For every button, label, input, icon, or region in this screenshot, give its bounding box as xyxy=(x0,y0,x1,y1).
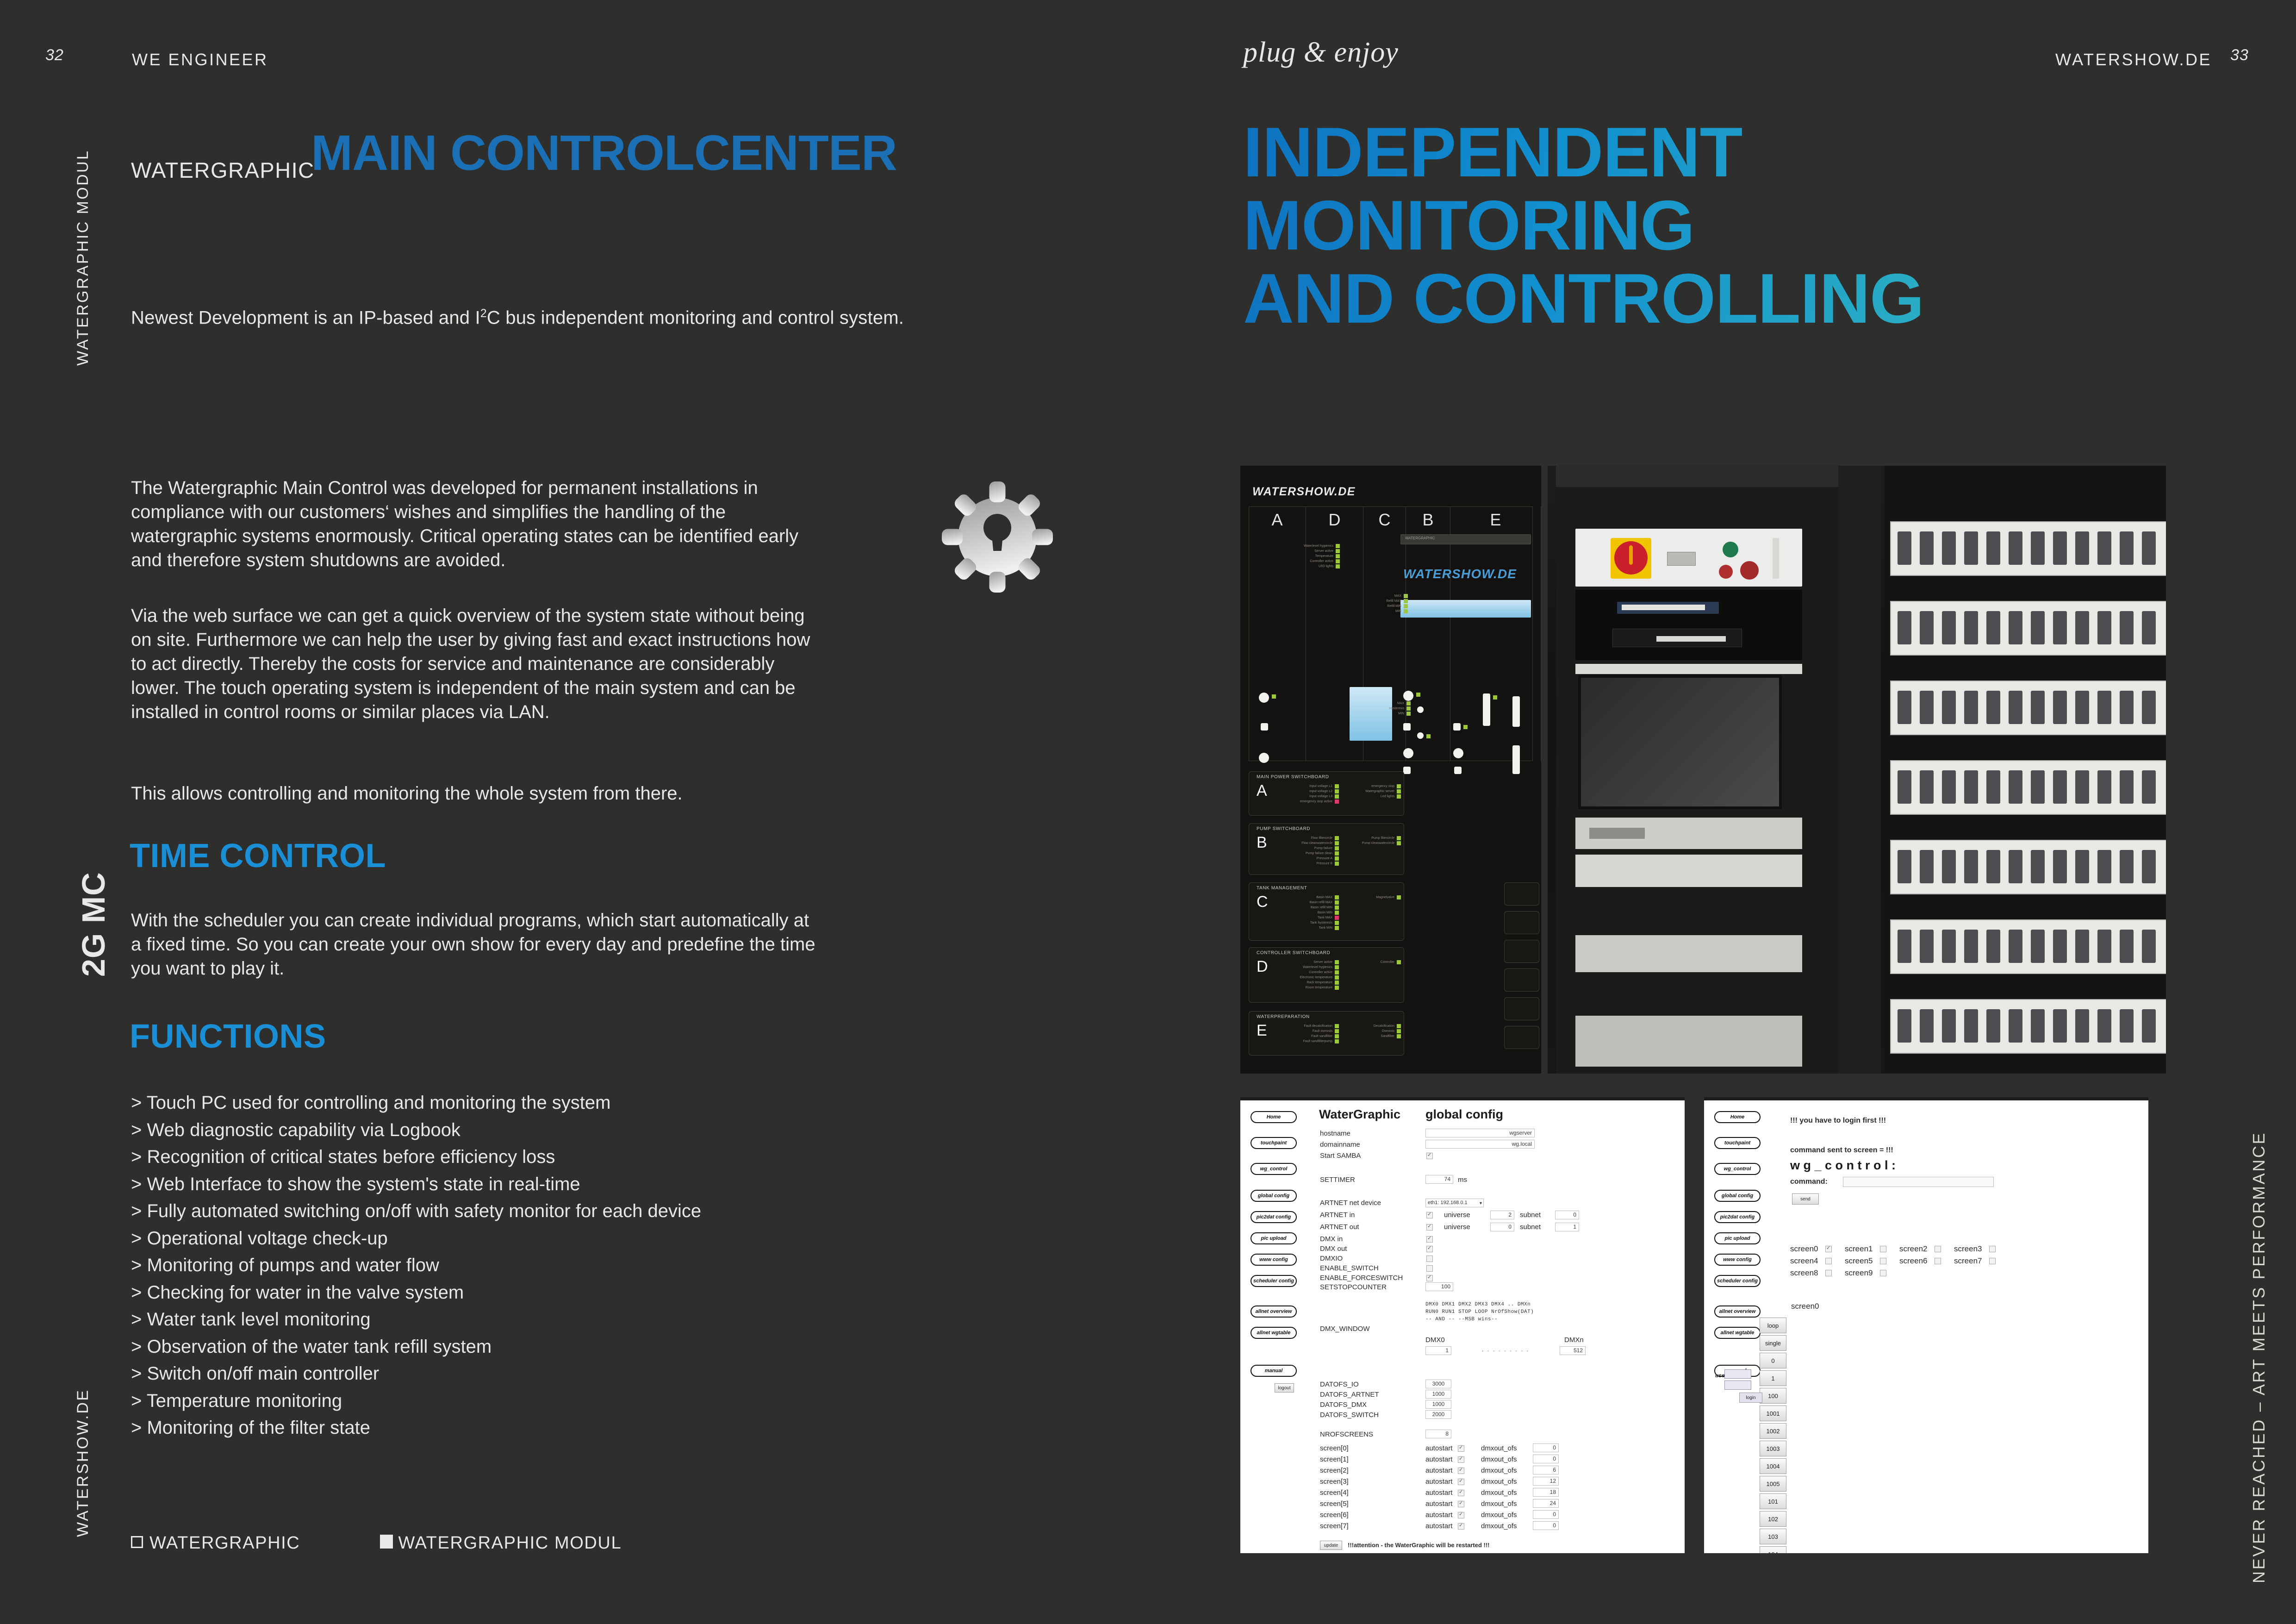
status-led-icon xyxy=(1397,1029,1401,1033)
photo-patch-port xyxy=(2009,1009,2022,1043)
command-button-102[interactable]: 102 xyxy=(1760,1511,1786,1527)
status-led-icon xyxy=(1416,693,1420,697)
status-led-icon xyxy=(1336,554,1340,558)
unit-settimer: ms xyxy=(1458,1176,1467,1184)
schematic-led-label: Flow cleanwatercircle xyxy=(1301,842,1332,845)
schematic-led-row: Fault sandfilter xyxy=(1279,1034,1339,1039)
input-datofs-artnet[interactable]: 1000 xyxy=(1425,1390,1451,1399)
schematic-led-row: Room temperature xyxy=(1279,985,1339,990)
global-config-nav-global-config[interactable]: global config xyxy=(1251,1190,1297,1202)
photo-patch-port xyxy=(1942,1009,1956,1043)
photo-patch-port xyxy=(2120,850,2134,883)
photo-patch-port xyxy=(2097,611,2111,644)
command-button-loop[interactable]: loop xyxy=(1760,1318,1786,1333)
schematic-led-label: Pump failure clean xyxy=(1306,852,1332,855)
photo-patch-port xyxy=(2053,531,2067,565)
label-datofs-io: DATOFS_IO xyxy=(1320,1380,1359,1388)
input-subnet-out[interactable]: 1 xyxy=(1555,1223,1579,1231)
label-screen5: screen5 xyxy=(1845,1256,1873,1266)
status-led-icon xyxy=(1463,725,1468,729)
schematic-led-label: Electronic temperature xyxy=(1300,976,1332,979)
lead-text-before: Newest Development is an IP-based and I xyxy=(131,307,480,328)
schematic-led-label: Controller active xyxy=(1309,971,1332,974)
screen-row-autostart-label: autostart xyxy=(1425,1478,1452,1486)
schematic-led-label: Watergraphic server xyxy=(1365,790,1394,793)
photo-patch-port xyxy=(2009,850,2022,883)
schematic-led-label: Magnetvalve xyxy=(1376,896,1394,899)
schematic-led-label: Rack temperature xyxy=(1307,981,1332,984)
schematic-component-node xyxy=(1483,693,1490,726)
input-datofs-io[interactable]: 3000 xyxy=(1425,1380,1451,1388)
schematic-led-row: Input voltage L3 xyxy=(1279,794,1339,799)
schematic-side-block xyxy=(1504,940,1539,963)
send-button[interactable]: send xyxy=(1792,1193,1819,1205)
schematic-column-e: E xyxy=(1450,506,1541,761)
status-led-icon xyxy=(1335,986,1339,990)
global-config-nav-touchpaint[interactable]: touchpaint xyxy=(1251,1137,1297,1149)
photo-patch-port xyxy=(1964,531,1978,565)
side-tab-tagline: NEVER REACHED – ART MEETS PERFORMANCE xyxy=(2249,1131,2269,1583)
command-input[interactable] xyxy=(1843,1177,1994,1187)
status-led-icon xyxy=(1335,911,1339,915)
label-screen7: screen7 xyxy=(1954,1256,1982,1266)
screen-row-autostart-checkbox[interactable] xyxy=(1458,1523,1464,1530)
schematic-led-row: Pump filtercircle xyxy=(1344,836,1401,841)
photo-patch-port xyxy=(1898,770,1911,804)
schematic-component-node xyxy=(1403,748,1413,758)
status-led-icon xyxy=(1335,926,1339,930)
checkbox-dmx out[interactable] xyxy=(1426,1246,1433,1252)
command-sent-status: command sent to screen = !!! xyxy=(1790,1146,1893,1155)
screen-row-dmxout-label: dmxout_ofs xyxy=(1481,1478,1517,1486)
photo-server-rack xyxy=(1548,466,2166,1074)
photo-patch-port xyxy=(2097,850,2111,883)
schematic-panel-letter: C xyxy=(1257,893,1268,911)
photo-patch-port xyxy=(1986,691,2000,724)
status-led-icon xyxy=(1335,841,1339,845)
wg-control-nav-www-config[interactable]: www config xyxy=(1714,1254,1761,1266)
status-led-icon xyxy=(1272,694,1276,699)
schematic-component-node xyxy=(1453,748,1463,758)
photo-patch-port xyxy=(2120,691,2134,724)
photo-patch-port xyxy=(2120,770,2134,804)
screen-row-dmxout-input[interactable]: 0 xyxy=(1533,1510,1559,1519)
checkbox-screen4[interactable] xyxy=(1825,1258,1832,1264)
command-button-1004[interactable]: 1004 xyxy=(1760,1458,1786,1474)
wg-control-nav-pic-upload[interactable]: pic upload xyxy=(1714,1232,1761,1244)
schematic-led-row: Pump failure xyxy=(1279,846,1339,851)
label-screen2: screen2 xyxy=(1899,1244,1927,1254)
photo-patch-port xyxy=(1986,611,2000,644)
schematic-led-label: Pressure B xyxy=(1316,862,1332,865)
schematic-panel-letter: A xyxy=(1257,782,1267,800)
checkbox-screen3[interactable] xyxy=(1989,1246,1996,1252)
schematic-led-row: MAX xyxy=(1357,593,1408,599)
status-led-icon xyxy=(1335,862,1339,866)
dmx-window-dots: . . . . . . . . . xyxy=(1482,1347,1530,1353)
input-domainname[interactable]: wg.local xyxy=(1425,1140,1535,1149)
photo-patch-port xyxy=(2009,531,2022,565)
label-enable-switch: ENABLE_SWITCH xyxy=(1320,1264,1379,1272)
wg-control-nav-touchpaint[interactable]: touchpaint xyxy=(1714,1137,1761,1149)
running-head-script: plug & enjoy xyxy=(1243,36,1399,69)
schematic-led-label: Tank hysteresis xyxy=(1310,921,1332,924)
screen-row-autostart-checkbox[interactable] xyxy=(1458,1501,1464,1507)
checkbox-screen6[interactable] xyxy=(1935,1258,1941,1264)
body-paragraph: This allows controlling and monitoring t… xyxy=(131,781,816,806)
schematic-led-label: Led lights xyxy=(1381,795,1394,798)
input-nrofscreens[interactable]: 8 xyxy=(1425,1430,1451,1438)
wg-control-nav-scheduler-config[interactable]: scheduler config xyxy=(1714,1275,1761,1287)
schematic-led-label: Controller xyxy=(1381,961,1394,964)
screen-row-dmxout-label: dmxout_ofs xyxy=(1481,1489,1517,1497)
screen-row-dmxout-label: dmxout_ofs xyxy=(1481,1522,1517,1530)
schematic-led-row: Flow cleanwatercircle xyxy=(1279,841,1339,846)
checkbox-artnet-out[interactable] xyxy=(1426,1224,1433,1230)
photo-patch-port xyxy=(1964,770,1978,804)
screen-row-dmxout-input[interactable]: 0 xyxy=(1533,1443,1559,1452)
schematic-led-row: Controller active xyxy=(1289,559,1340,564)
screen-row-dmxout-label: dmxout_ofs xyxy=(1481,1500,1517,1508)
screen-row-autostart-checkbox[interactable] xyxy=(1458,1445,1464,1452)
screen-row-dmxout-input[interactable]: 0 xyxy=(1533,1521,1559,1530)
screen-row-dmxout-input[interactable]: 0 xyxy=(1533,1455,1559,1463)
screen-row-autostart-label: autostart xyxy=(1425,1522,1452,1530)
screen-row-dmxout-label: dmxout_ofs xyxy=(1481,1455,1517,1463)
command-button-1005[interactable]: 1005 xyxy=(1760,1476,1786,1492)
status-led-icon xyxy=(1335,794,1339,799)
photo-patch-port xyxy=(1898,691,1911,724)
photo-patch-port xyxy=(1964,1009,1978,1043)
schematic-led-label: Decalcification xyxy=(1374,1024,1394,1028)
screen-row-name: screen[4] xyxy=(1320,1489,1349,1497)
status-led-icon xyxy=(1335,975,1339,980)
photo-patch-port xyxy=(2053,691,2067,724)
input-subnet-in[interactable]: 0 xyxy=(1555,1211,1579,1219)
photo-patch-port xyxy=(1920,770,1934,804)
photo-patch-port xyxy=(2009,770,2022,804)
schematic-led-row: Flow filtercircle xyxy=(1279,836,1339,841)
screen-row-autostart-checkbox[interactable] xyxy=(1458,1490,1464,1496)
schematic-led-label: MIN xyxy=(1398,712,1404,715)
photo-patch-port xyxy=(1964,611,1978,644)
function-list-item: > Observation of the water tank refill s… xyxy=(131,1333,701,1361)
photo-patch-port xyxy=(1986,1009,2000,1043)
checkbox-screen8[interactable] xyxy=(1825,1270,1832,1276)
status-led-icon xyxy=(1397,794,1401,799)
label-nrofscreens: NROFSCREENS xyxy=(1320,1430,1373,1438)
schematic-panel-d: CONTROLLER SWITCHBOARDDServer activeWate… xyxy=(1249,947,1404,1003)
schematic-panel-right-column: Pump filtercirclePump cleanwatercircle xyxy=(1344,836,1401,846)
label-dmx-window: DMX_WINDOW xyxy=(1320,1325,1370,1333)
footer-marks: WATERGRAPHIC WATERGRAPHIC MODUL xyxy=(131,1533,622,1553)
input-dmxn[interactable]: 512 xyxy=(1560,1346,1586,1355)
global-config-nav-allnet-wgtable[interactable]: allnet wgtable xyxy=(1251,1327,1297,1339)
ui-screenshot-row: Hometouchpaintwg_controlglobal configpic… xyxy=(1240,1097,2166,1553)
command-button-0[interactable]: 0 xyxy=(1760,1353,1786,1368)
input-hostname[interactable]: wgserver xyxy=(1425,1129,1535,1137)
body-paragraph: The Watergraphic Main Control was develo… xyxy=(131,476,816,572)
screen-row-autostart-label: autostart xyxy=(1425,1455,1452,1463)
schematic-led-row: Pressure A xyxy=(1279,856,1339,861)
global-config-nav-home[interactable]: Home xyxy=(1251,1111,1297,1123)
screen-row-autostart-label: autostart xyxy=(1425,1467,1452,1474)
label-subnet-out: subnet xyxy=(1520,1223,1541,1231)
login-button[interactable]: login xyxy=(1739,1393,1762,1403)
photo-patch-port xyxy=(2009,930,2022,963)
schematic-led-label: Basin refill MAX xyxy=(1310,901,1332,904)
screen-row-name: screen[6] xyxy=(1320,1511,1349,1519)
checkbox-screen7[interactable] xyxy=(1989,1258,1996,1264)
wg-control-nav-global-config[interactable]: global config xyxy=(1714,1190,1761,1202)
status-led-icon xyxy=(1335,900,1339,905)
schematic-led-row: Led lights xyxy=(1344,794,1401,799)
section-heading-functions: FUNCTIONS xyxy=(130,1018,326,1056)
body-paragraph-time-control: With the scheduler you can create indivi… xyxy=(131,908,816,981)
schematic-led-row: Input voltage L1 xyxy=(1279,784,1339,789)
status-led-icon xyxy=(1335,856,1339,861)
screen-row-autostart-checkbox[interactable] xyxy=(1458,1512,1464,1518)
schematic-led-label: Fault osmosis xyxy=(1313,1030,1332,1033)
screen-row-autostart-checkbox[interactable] xyxy=(1458,1468,1464,1474)
photo-patch-port xyxy=(1942,850,1956,883)
wg-control-nav-pic2dat-config[interactable]: pic2dat config xyxy=(1714,1211,1761,1223)
schematic-column-b: B xyxy=(1406,506,1450,761)
global-config-nav-pic-upload[interactable]: pic upload xyxy=(1251,1232,1297,1244)
function-list-item: > Fully automated switching on/off with … xyxy=(131,1198,701,1225)
status-led-icon xyxy=(1335,800,1339,804)
photo-patch-port xyxy=(2053,770,2067,804)
page-title: global config xyxy=(1425,1107,1503,1122)
photo-patch-port xyxy=(1964,930,1978,963)
schematic-panel-title: WATERPREPARATION xyxy=(1257,1014,1310,1019)
global-config-nav-allnet-overview[interactable]: allnet overview xyxy=(1251,1305,1297,1318)
label-datofs-switch: DATOFS_SWITCH xyxy=(1320,1411,1379,1419)
input-universe-in[interactable]: 2 xyxy=(1490,1211,1514,1219)
function-list-item: > Temperature monitoring xyxy=(131,1387,701,1415)
input-universe-out[interactable]: 0 xyxy=(1490,1223,1514,1231)
running-head-right: WATERSHOW.DE xyxy=(2055,50,2212,69)
schematic-led-row: Server active xyxy=(1289,549,1340,554)
checkbox-start-samba[interactable] xyxy=(1426,1153,1433,1159)
schematic-panel-right-column: Magnetvalve xyxy=(1344,895,1401,900)
schematic-panel-title: MAIN POWER SWITCHBOARD xyxy=(1257,775,1329,780)
checkbox-artnet-in[interactable] xyxy=(1426,1212,1433,1218)
password-input[interactable] xyxy=(1724,1380,1751,1390)
app-title: WaterGraphic xyxy=(1319,1107,1400,1122)
schematic-component-node xyxy=(1417,732,1424,739)
schematic-component-node xyxy=(1403,767,1411,774)
footer-mark-watergraphic-modul: WATERGRAPHIC MODUL xyxy=(380,1533,622,1553)
global-config-nav-wg-control[interactable]: wg_control xyxy=(1251,1163,1297,1175)
browser-chrome-bar xyxy=(1240,1097,1685,1100)
photo-patch-port xyxy=(2031,531,2045,565)
status-led-icon xyxy=(1404,604,1408,608)
photo-patch-port xyxy=(1942,930,1956,963)
screen-row-dmxout-input[interactable]: 12 xyxy=(1533,1477,1559,1486)
schematic-component-node xyxy=(1512,696,1520,727)
label-hostname: hostname xyxy=(1320,1130,1350,1137)
command-label: command: xyxy=(1790,1178,1828,1186)
checkbox-dmxio[interactable] xyxy=(1426,1255,1433,1262)
screen-row-autostart-checkbox[interactable] xyxy=(1458,1456,1464,1463)
schematic-led-label: Input voltage L3 xyxy=(1309,795,1332,798)
checkbox-dmx in[interactable] xyxy=(1426,1236,1433,1243)
photo-patch-port xyxy=(2031,1009,2045,1043)
global-config-nav-manual[interactable]: manual xyxy=(1251,1365,1297,1377)
user-input[interactable] xyxy=(1724,1369,1751,1379)
schematic-panel-title: PUMP SWITCHBOARD xyxy=(1257,826,1310,831)
photo-patch-port xyxy=(2142,850,2156,883)
schematic-led-row: Sandfilter xyxy=(1344,1034,1401,1039)
screen-row-autostart-label: autostart xyxy=(1425,1444,1452,1452)
schematic-led-label: Waterlevel hygienics xyxy=(1303,966,1332,969)
screen-row-name: screen[0] xyxy=(1320,1444,1349,1452)
photo-patch-port xyxy=(1986,531,2000,565)
schematic-logo: WATERSHOW.DE xyxy=(1252,485,1356,499)
command-button-1[interactable]: 1 xyxy=(1760,1370,1786,1386)
schematic-panel-letter: D xyxy=(1257,958,1268,976)
input-setstopcounter[interactable]: 100 xyxy=(1425,1282,1453,1291)
label-universe-in: universe xyxy=(1444,1211,1470,1219)
schematic-led-label: Pump filtercircle xyxy=(1371,837,1394,840)
command-button-1001[interactable]: 1001 xyxy=(1760,1405,1786,1421)
checkbox-screen2[interactable] xyxy=(1935,1246,1941,1252)
photo-patch-port xyxy=(2031,930,2045,963)
screen-row-dmxout-input[interactable]: 24 xyxy=(1533,1499,1559,1508)
schematic-panel-left-column: Flow filtercircleFlow cleanwatercirclePu… xyxy=(1279,836,1339,866)
photo-patch-port xyxy=(2120,531,2134,565)
checkbox-screen0[interactable] xyxy=(1825,1246,1832,1252)
wg-control-title: w g _ c o n t r o l : xyxy=(1790,1158,1896,1173)
global-config-nav-www-config[interactable]: www config xyxy=(1251,1254,1297,1266)
screen-row-dmxout-input[interactable]: 6 xyxy=(1533,1466,1559,1474)
schematic-led-row: Osmosis xyxy=(1344,1029,1401,1034)
status-led-icon xyxy=(1493,695,1497,700)
command-button-1002[interactable]: 1002 xyxy=(1760,1423,1786,1439)
footer-mark-label: WATERGRAPHIC MODUL xyxy=(398,1533,622,1553)
update-button[interactable]: update xyxy=(1320,1541,1342,1550)
status-led-icon xyxy=(1335,1034,1339,1038)
schematic-component-node xyxy=(1512,745,1520,774)
schematic-led-label: Hysteresis xyxy=(1389,707,1404,710)
input-settimer[interactable]: 74 xyxy=(1425,1175,1453,1184)
schematic-led-label: Pump failure xyxy=(1314,847,1332,850)
lead-paragraph: Newest Development is an IP-based and I2… xyxy=(131,307,904,328)
schematic-led-row: MIN xyxy=(1357,609,1408,614)
command-button-104[interactable]: 104 xyxy=(1760,1546,1786,1553)
wg-control-nav-allnet-overview[interactable]: allnet overview xyxy=(1714,1305,1761,1318)
screenshot-global-config: Hometouchpaintwg_controlglobal configpic… xyxy=(1240,1097,1685,1553)
schematic-component-node xyxy=(1259,693,1269,703)
side-tab-watergraphic-modul: WATERGRAPHIC MODUL xyxy=(74,150,92,366)
photo-patch-port xyxy=(1920,611,1934,644)
schematic-led-row: Waterlevel hygienics xyxy=(1289,543,1340,549)
schematic-led-label: emergency stop xyxy=(1371,785,1394,788)
command-button-100[interactable]: 100 xyxy=(1760,1388,1786,1404)
status-led-icon xyxy=(1335,906,1339,910)
photo-patch-port xyxy=(2053,1009,2067,1043)
schematic-component-node xyxy=(1417,706,1424,713)
screen-row-autostart-label: autostart xyxy=(1425,1511,1452,1519)
command-button-1003[interactable]: 1003 xyxy=(1760,1441,1786,1456)
checkbox-screen1[interactable] xyxy=(1880,1246,1886,1252)
global-config-nav-scheduler-config[interactable]: scheduler config xyxy=(1251,1275,1297,1287)
screen-row-autostart-label: autostart xyxy=(1425,1500,1452,1508)
schematic-led-label: Pressure A xyxy=(1317,857,1332,860)
wg-control-nav-home[interactable]: Home xyxy=(1714,1111,1761,1123)
photo-patch-port xyxy=(2075,1009,2089,1043)
photo-patch-port xyxy=(2031,770,2045,804)
photo-patch-port xyxy=(2053,611,2067,644)
checkbox-enable-switch[interactable] xyxy=(1426,1265,1433,1272)
select-artnet-net-device[interactable]: eth1: 192.168.0.1 xyxy=(1425,1199,1484,1207)
input-datofs-dmx[interactable]: 1000 xyxy=(1425,1400,1451,1409)
photo-patch-port xyxy=(1964,850,1978,883)
status-led-icon xyxy=(1335,895,1339,899)
checkbox-empty-icon xyxy=(131,1536,143,1548)
screen-row-autostart-checkbox[interactable] xyxy=(1458,1479,1464,1485)
photo-patch-port xyxy=(2142,691,2156,724)
screen-row-dmxout-input[interactable]: 18 xyxy=(1533,1488,1559,1497)
photo-patch-port xyxy=(1920,531,1934,565)
wg-control-nav-allnet-wgtable[interactable]: allnet wgtable xyxy=(1714,1327,1761,1339)
legend-line-1: DMX0 DMX1 DMX2 DMX3 DMX4 .. DMXn xyxy=(1425,1302,1531,1307)
photo-patch-port xyxy=(2120,930,2134,963)
schematic-led-label: Waterlevel hygienics xyxy=(1304,544,1333,548)
status-led-icon xyxy=(1335,789,1339,793)
running-head-left: WE ENGINEER xyxy=(132,50,268,69)
status-led-icon xyxy=(1397,841,1401,845)
schematic-led-label: Fault sandfilter xyxy=(1311,1035,1332,1038)
input-datofs-switch[interactable]: 2000 xyxy=(1425,1410,1451,1419)
command-button-single[interactable]: single xyxy=(1760,1335,1786,1351)
status-led-icon xyxy=(1335,846,1339,850)
schematic-panel-left-column: Basin MAXBasin refill MAXBasin refill MI… xyxy=(1279,895,1339,931)
checkbox-screen5[interactable] xyxy=(1880,1258,1886,1264)
label-settimer: SETTIMER xyxy=(1320,1176,1355,1184)
schematic-side-block xyxy=(1504,968,1539,992)
photo-patch-port xyxy=(1898,1009,1911,1043)
input-dmx0[interactable]: 1 xyxy=(1425,1346,1451,1355)
function-list-item: > Touch PC used for controlling and moni… xyxy=(131,1089,701,1117)
checkbox-enable-forceswitch[interactable] xyxy=(1426,1275,1433,1281)
status-led-icon xyxy=(1335,921,1339,925)
photo-patch-port xyxy=(2075,691,2089,724)
wg-control-nav-wg-control[interactable]: wg_control xyxy=(1714,1163,1761,1175)
label-subnet-in: subnet xyxy=(1520,1211,1541,1219)
logout-button[interactable]: logout xyxy=(1275,1383,1294,1393)
legend-line-2: RUN0 RUN1 STOP LOOP NrOfShow(DAT) xyxy=(1425,1309,1534,1315)
checkbox-screen9[interactable] xyxy=(1880,1270,1886,1276)
photo-patch-port xyxy=(2142,531,2156,565)
schematic-panel-a: MAIN POWER SWITCHBOARDAInput voltage L1I… xyxy=(1249,771,1404,816)
command-button-103[interactable]: 103 xyxy=(1760,1529,1786,1544)
global-config-nav-pic2dat-config[interactable]: pic2dat config xyxy=(1251,1211,1297,1223)
schematic-panel-right-column: Controller xyxy=(1344,960,1401,965)
schematic-column-label: A xyxy=(1249,510,1306,530)
status-led-icon xyxy=(1397,895,1401,899)
command-button-101[interactable]: 101 xyxy=(1760,1493,1786,1509)
screen-row-autostart-label: autostart xyxy=(1425,1489,1452,1497)
section-heading-time-control: TIME CONTROL xyxy=(130,837,386,875)
label-artnet-out: ARTNET out xyxy=(1320,1223,1359,1231)
schematic-led-row: Basin refill MAX xyxy=(1279,900,1339,905)
page-title: MAIN CONTROLCENTER xyxy=(311,124,897,181)
photo-patch-port xyxy=(2031,691,2045,724)
photo-patch-port xyxy=(2009,611,2022,644)
status-led-icon xyxy=(1406,712,1411,716)
